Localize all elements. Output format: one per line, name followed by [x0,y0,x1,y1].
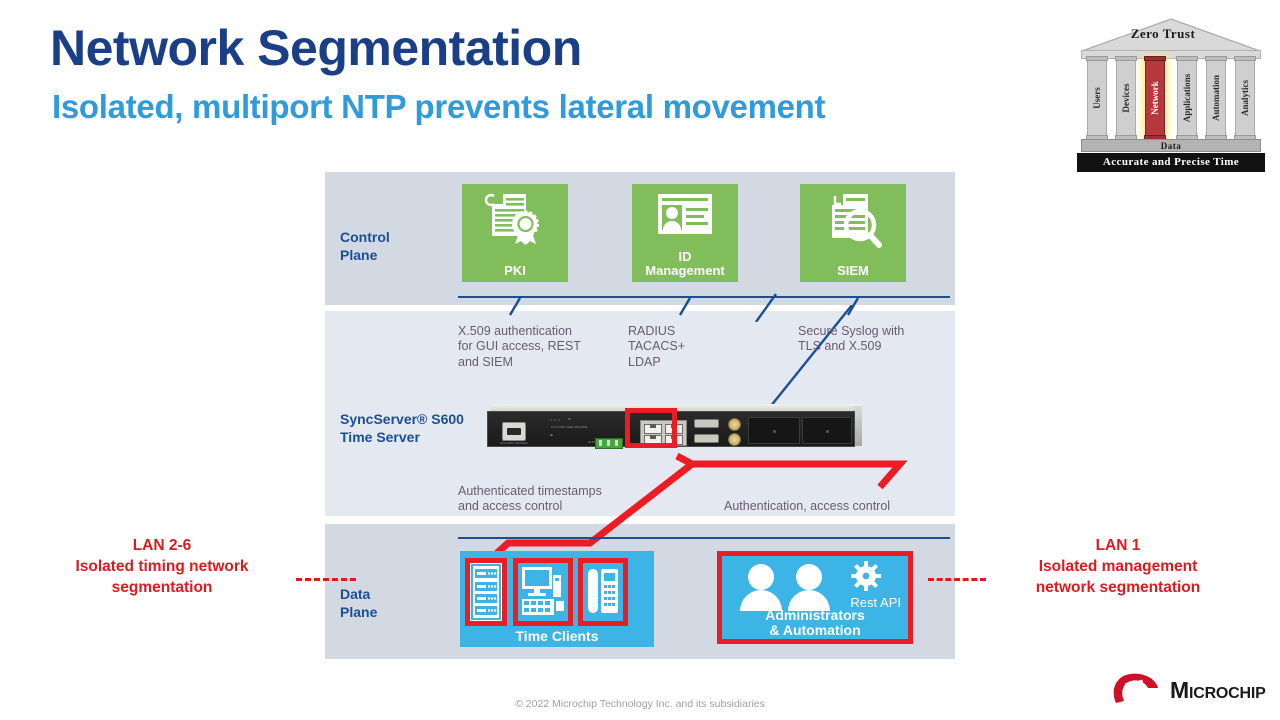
time-server-label-line1: SyncServer® S600 [340,411,464,427]
control-tile-id-management[interactable]: ID Management [632,184,738,282]
microchip-wordmark: MICROCHIP [1170,677,1266,704]
control-tile-siem-label: SIEM [800,264,906,278]
callout-right-dash-line [928,578,986,581]
control-tile-pki[interactable]: PKI [462,184,568,282]
zero-trust-roof-label: Zero Trust [1073,26,1253,42]
time-clients-label: Time Clients [460,628,654,644]
red-link-administrators [692,464,900,487]
pillar-applications: Applications [1177,59,1197,137]
callout-lan-1: LAN 1 Isolated management network segmen… [984,536,1252,599]
anno-line2: TACACS+ [628,339,685,353]
time-client-computer-box[interactable] [513,558,573,626]
slide-canvas: Network Segmentation Isolated, multiport… [0,0,1280,720]
esd-symbol-icon: ⚖ [568,417,571,421]
control-tile-id-management-label: ID Management [632,250,738,278]
pillar-automation: Automation [1206,59,1226,137]
microchip-logo: MICROCHIP [1110,672,1270,708]
zero-trust-pillars: Users Devices Network Applications Autom [1087,59,1255,137]
pillar-cap [1086,56,1108,61]
anno-line3: LDAP [628,355,661,369]
ip-phone-icon [583,563,623,621]
server-uplink-line [740,305,870,420]
callout-left-dash-line [296,578,356,581]
callout-right-line3: network segmentation [1036,579,1201,596]
anno-line2: TLS and X.509 [798,339,881,353]
pillar-label: Analytics [1240,80,1250,116]
callout-left-line3: segmentation [112,579,213,596]
control-plane-connectors [458,282,950,322]
zero-trust-banner: Accurate and Precise Time [1077,153,1265,172]
server-caution-text: CAUTION SEE MANUAL [551,425,588,429]
pillar-cap [1115,56,1137,61]
annotation-aaa: RADIUS TACACS+ LDAP [628,324,685,370]
microchip-wordmark-rest: ICROCHIP [1189,685,1266,702]
annotation-syslog: Secure Syslog with TLS and X.509 [798,324,904,355]
control-plane-label: Control Plane [340,229,390,264]
pillar-label: Automation [1211,75,1221,121]
pillar-label: Users [1092,87,1102,109]
certificate-document-icon [484,192,546,250]
time-client-phone-box[interactable] [578,558,628,626]
id-label-line1: ID [679,249,692,264]
zero-trust-base-label: Data [1081,139,1261,152]
control-plane-label-line2: Plane [340,247,377,263]
pillar-users: Users [1087,59,1107,137]
pillar-label: Network [1150,81,1160,115]
data-plane-label-line1: Data [340,586,370,602]
page-subtitle: Isolated, multiport NTP prevents lateral… [52,90,825,125]
server-warning-marks: ⚠ ⚠ ⚠ [550,418,561,422]
annotation-x509: X.509 authentication for GUI access, RES… [458,324,581,370]
time-server-label-line2: Time Server [340,429,420,445]
data-plane-label-line2: Plane [340,604,377,620]
anno-line1: RADIUS [628,324,675,338]
data-plane-bus-line [458,537,950,539]
anno-line1: X.509 authentication [458,324,572,338]
page-title: Network Segmentation [50,22,582,75]
anno-line3: and SIEM [458,355,513,369]
desktop-computer-icon [518,563,568,621]
callout-left-line1: LAN 2-6 [133,537,192,554]
pillar-cap [1176,56,1198,61]
pillar-cap [1144,56,1166,61]
control-tile-siem[interactable]: SIEM [800,184,906,282]
data-plane-label: Data Plane [340,586,377,621]
pillar-devices: Devices [1116,59,1136,137]
id-card-icon [654,192,716,238]
pillar-label: Devices [1121,84,1131,113]
pillar-analytics: Analytics [1235,59,1255,137]
bnc-connector-top [728,418,741,431]
zero-trust-logo: Zero Trust Users Devices Network Applica… [1073,18,1269,158]
power-inlet-icon [502,422,526,441]
callout-lan-2-6: LAN 2-6 Isolated timing network segmenta… [28,536,296,599]
ground-symbol-icon: ⏏ [550,433,553,437]
administrators-highlight-box [717,551,913,644]
id-label-line2: Management [645,263,724,278]
anno-line2: for GUI access, REST [458,339,581,353]
anno-line1: Secure Syslog with [798,324,904,338]
callout-right-line2: Isolated management [1039,558,1198,575]
pillar-cap [1234,56,1256,61]
microchip-wordmark-initial: M [1170,677,1189,703]
server-rack-icon [470,563,502,621]
callout-left-line2: Isolated timing network [75,558,248,575]
control-plane-label-line1: Control [340,229,390,245]
callout-right-line1: LAN 1 [1096,537,1141,554]
control-tile-pki-label: PKI [462,264,568,278]
pillar-cap [1205,56,1227,61]
time-client-server-rack-box[interactable] [465,558,507,626]
document-magnifier-icon [822,192,884,250]
microchip-mark-icon [1110,672,1162,708]
pillar-label: Applications [1182,74,1192,123]
serial-port-top [694,419,719,428]
copyright-footer: © 2022 Microchip Technology Inc. and its… [0,698,1280,710]
pillar-network: Network [1145,59,1165,137]
